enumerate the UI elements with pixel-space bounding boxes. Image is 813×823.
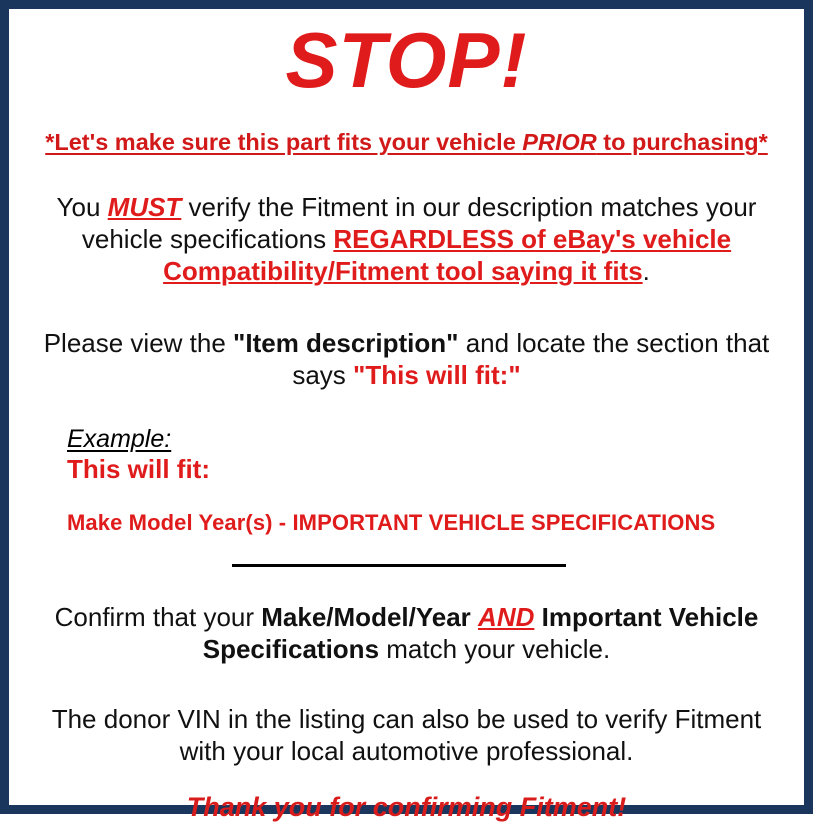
paragraph-must: You MUST verify the Fitment in our descr…	[19, 192, 794, 288]
example-fit-heading: This will fit:	[67, 455, 794, 485]
must-emphasis: MUST	[108, 192, 182, 222]
fitment-notice-card: STOP! *Let's make sure this part fits yo…	[0, 0, 813, 814]
notice-inner: STOP! *Let's make sure this part fits yo…	[9, 21, 804, 817]
example-label-row: Example:	[67, 426, 794, 454]
subtitle-part2: to purchasing*	[597, 129, 768, 155]
paragraph-description: Please view the "Item description" and l…	[19, 328, 794, 392]
divider-wrap	[19, 559, 794, 573]
example-spec-line: Make Model Year(s) - IMPORTANT VEHICLE S…	[67, 510, 794, 536]
subtitle-line: *Let's make sure this part fits your veh…	[19, 129, 794, 156]
must-tail: .	[643, 256, 650, 286]
example-label: Example:	[67, 426, 171, 454]
confirm-lead: Confirm that your	[55, 602, 262, 632]
must-lead: You	[57, 192, 108, 222]
paragraph-confirm: Confirm that your Make/Model/Year AND Im…	[19, 602, 794, 666]
thanks-line: Thank you for confirming Fitment!	[19, 792, 794, 823]
section-divider	[232, 564, 566, 567]
stop-headline: STOP!	[19, 21, 794, 99]
example-block: Example: This will fit: Make Model Year(…	[19, 426, 794, 536]
description-emphasis-willfit: "This will fit:"	[353, 360, 521, 390]
description-lead: Please view the	[44, 328, 233, 358]
description-emphasis-item: "Item description"	[233, 328, 458, 358]
subtitle-part1: *Let's make sure this part fits your veh…	[45, 129, 522, 155]
confirm-emphasis-and: AND	[478, 602, 534, 632]
paragraph-vin: The donor VIN in the listing can also be…	[19, 704, 794, 768]
confirm-emphasis-makemodelyear: Make/Model/Year	[261, 602, 471, 632]
subtitle-emphasis-prior: PRIOR	[522, 129, 596, 155]
confirm-tail: match your vehicle.	[379, 634, 610, 664]
